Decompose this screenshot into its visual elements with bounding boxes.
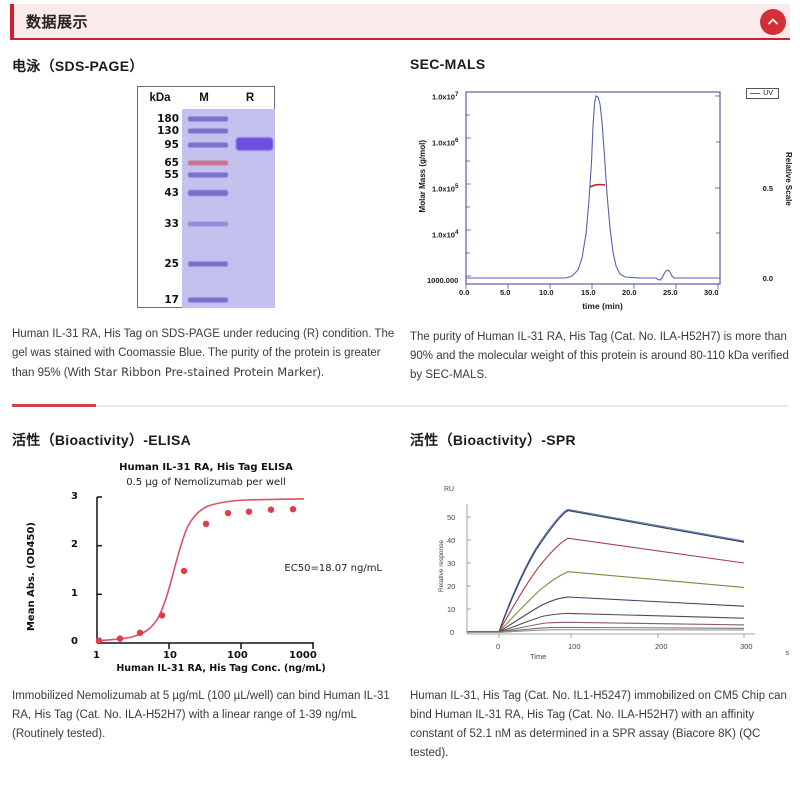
ladder-band [188, 262, 228, 267]
section-divider-accent [12, 404, 96, 407]
sec-mals-plot [410, 82, 795, 312]
elisa-point [181, 568, 187, 574]
ladder-label: 25 [164, 258, 179, 270]
ladder-label: 55 [164, 169, 179, 181]
elisa-point [268, 507, 274, 513]
spr-curves [467, 510, 744, 633]
sec-mals-chart: Molar Mass (g/mol) Relative Scale time (… [410, 82, 795, 312]
elisa-point [159, 612, 165, 618]
elisa-plot [12, 460, 400, 675]
elisa-point [117, 635, 123, 641]
elisa-point [96, 637, 102, 643]
gel-lane-area [182, 109, 275, 308]
chevron-up-icon [767, 16, 779, 28]
section-divider [12, 405, 788, 407]
spr-curve [467, 510, 744, 632]
section-title-sds-page: 电泳（SDS-PAGE） [12, 56, 400, 76]
ladder-label: 130 [157, 125, 179, 137]
caption-marker-name: Star Ribbon Pre-stained Protein Marker [94, 365, 317, 379]
ladder-band [188, 128, 228, 133]
elisa-point [246, 509, 252, 515]
section-title-sec-mals: SEC-MALS [410, 56, 795, 72]
section-elisa: 活性（Bioactivity）-ELISA Human IL-31 RA, Hi… [12, 430, 400, 744]
ladder-label: 17 [164, 294, 179, 306]
elisa-fit-curve [99, 499, 304, 641]
sec-mals-molar-mass-trace [590, 185, 605, 188]
spr-curve [467, 538, 744, 632]
spr-chart: RU Relative response Time s 0 10 20 30 4… [410, 460, 795, 675]
ladder-label: 95 [164, 139, 179, 151]
collapse-panel-button[interactable] [760, 9, 786, 35]
spr-curve [467, 511, 744, 632]
sample-band-r-lane [236, 137, 273, 150]
elisa-chart: Human IL-31 RA, His Tag ELISA 0.5 µg of … [12, 460, 400, 675]
sec-mals-uv-trace [466, 96, 718, 280]
caption-sds-page: Human IL-31 RA, His Tag on SDS-PAGE unde… [12, 325, 400, 383]
gel-column-headers: kDa M R [138, 87, 274, 109]
plot-axes [467, 504, 755, 638]
page-title: 数据展示 [26, 11, 88, 32]
elisa-point [137, 630, 143, 636]
caption-spr: Human IL-31, His Tag (Cat. No. IL1-H5247… [410, 687, 795, 763]
ladder-band [188, 190, 228, 196]
ladder-band [188, 298, 228, 303]
gel-header-m: M [182, 87, 226, 109]
ladder-label: 180 [157, 113, 179, 125]
section-title-spr: 活性（Bioactivity）-SPR [410, 430, 795, 450]
spr-plot [410, 460, 795, 675]
ladder-band [188, 160, 228, 165]
panel-header: 数据展示 [10, 4, 790, 40]
data-display-page: 数据展示 电泳（SDS-PAGE） kDa M R 180 130 [0, 0, 800, 802]
gel-box: kDa M R 180 130 95 65 55 43 33 25 17 [137, 86, 275, 308]
gel-header-kda: kDa [138, 87, 182, 109]
elisa-data-points [96, 506, 296, 644]
caption-tail: ). [317, 367, 324, 379]
ladder-band [188, 142, 228, 147]
ladder-band [188, 116, 228, 121]
elisa-point [225, 510, 231, 516]
section-sds-page: 电泳（SDS-PAGE） kDa M R 180 130 95 65 55 43 [12, 56, 400, 383]
sds-page-gel-figure: kDa M R 180 130 95 65 55 43 33 25 17 [12, 86, 400, 311]
gel-ladder-labels: 180 130 95 65 55 43 33 25 17 [138, 109, 182, 308]
elisa-point [203, 521, 209, 527]
gel-header-r: R [226, 87, 274, 109]
caption-elisa: Immobilized Nemolizumab at 5 µg/mL (100 … [12, 687, 400, 744]
plot-axes [97, 497, 314, 649]
ladder-label: 65 [164, 157, 179, 169]
section-spr: 活性（Bioactivity）-SPR RU Relative response… [410, 430, 795, 763]
section-title-elisa: 活性（Bioactivity）-ELISA [12, 430, 400, 450]
caption-sec-mals: The purity of Human IL-31 RA, His Tag (C… [410, 328, 795, 385]
elisa-point [290, 506, 296, 512]
ladder-band [188, 172, 228, 177]
section-sec-mals: SEC-MALS Molar Mass (g/mol) Relative Sca… [410, 56, 795, 385]
ladder-band [188, 222, 228, 227]
ladder-label: 33 [164, 218, 179, 230]
ladder-label: 43 [164, 187, 179, 199]
